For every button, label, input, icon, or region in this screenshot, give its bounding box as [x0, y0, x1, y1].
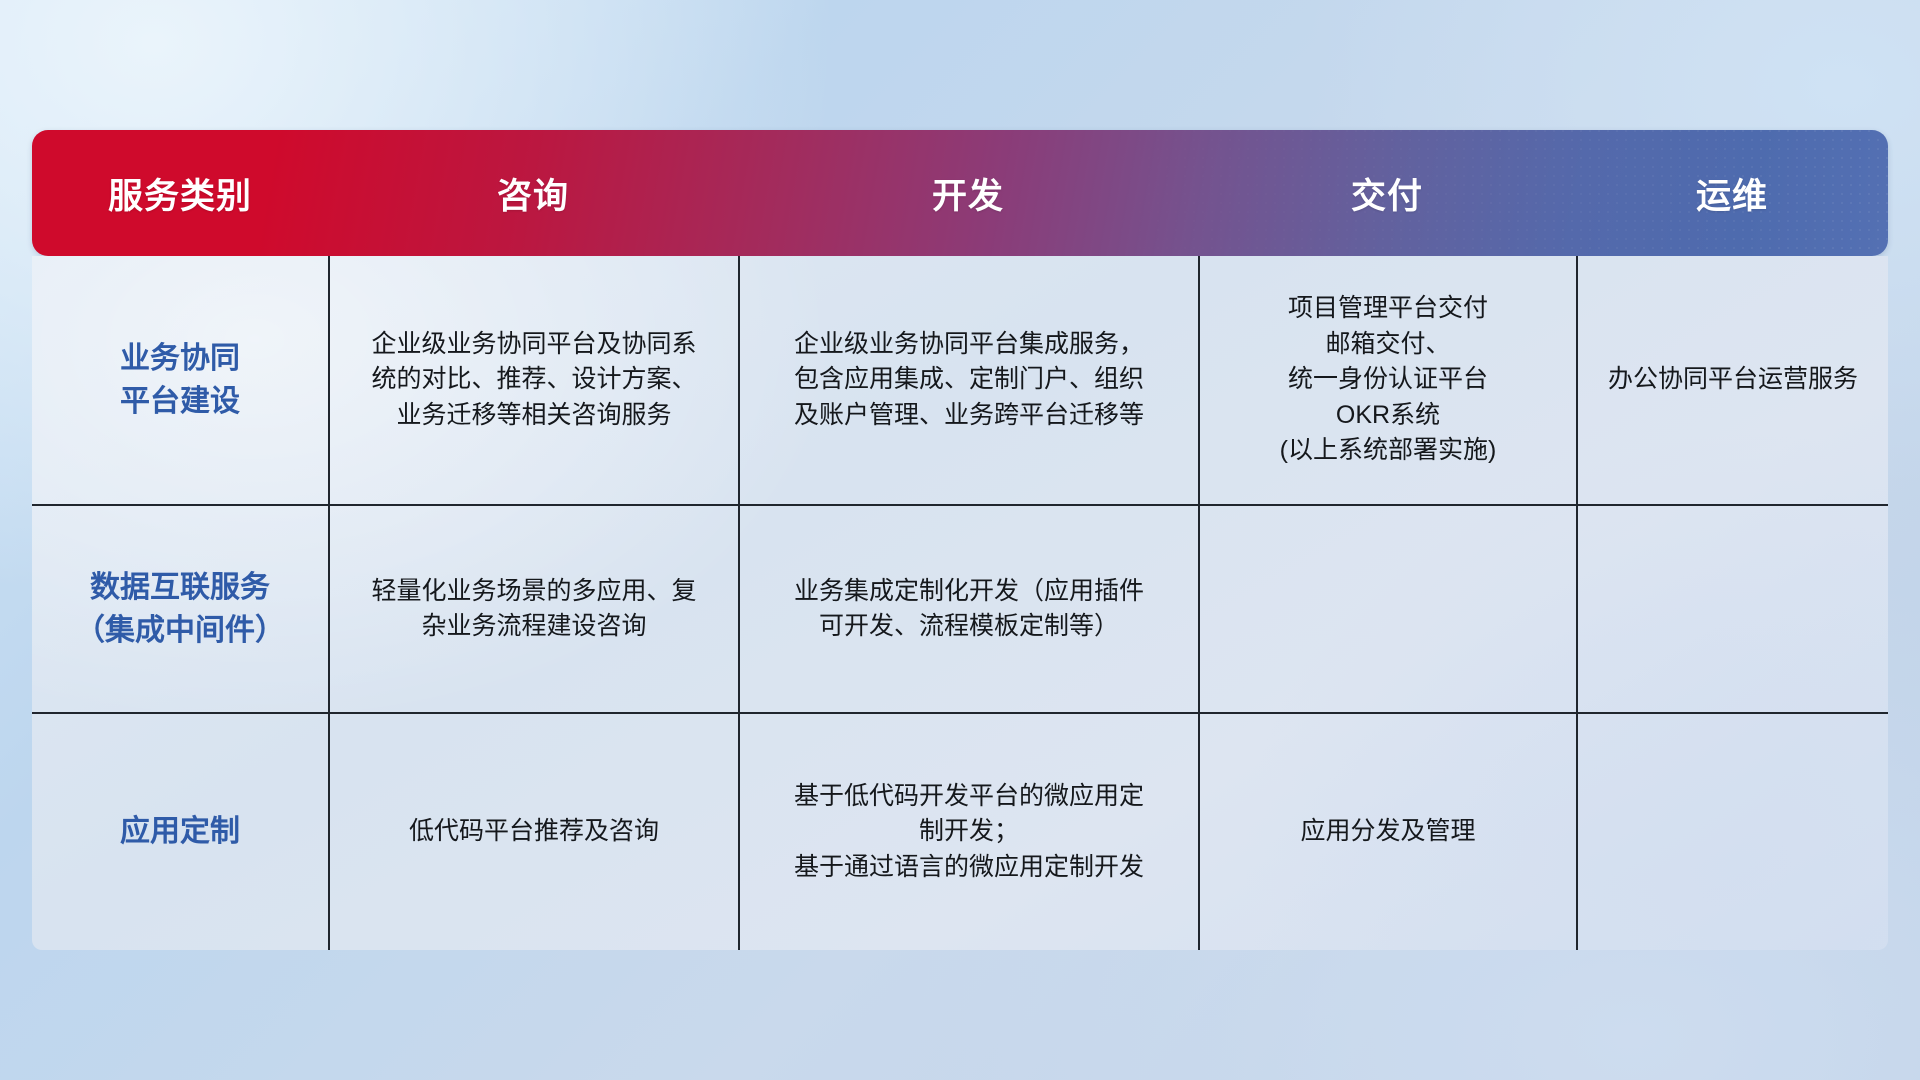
column-header-development: 开发	[738, 168, 1198, 219]
column-header-service-category: 服务类别	[32, 168, 328, 219]
cell-development: 业务集成定制化开发（应用插件 可开发、流程模板定制等）	[738, 506, 1198, 712]
cell-consulting: 低代码平台推荐及咨询	[328, 714, 738, 950]
column-header-consulting: 咨询	[328, 168, 738, 219]
cell-delivery: 应用分发及管理	[1198, 714, 1576, 950]
column-header-delivery: 交付	[1198, 168, 1576, 219]
table-header-row: 服务类别 咨询 开发 交付 运维	[32, 130, 1888, 256]
table-body: 业务协同 平台建设 企业级业务协同平台及协同系 统的对比、推荐、设计方案、 业务…	[32, 256, 1888, 950]
row-category-label: 数据互联服务 （集成中间件）	[32, 506, 328, 712]
row-category-label: 应用定制	[32, 714, 328, 950]
service-matrix-table: 服务类别 咨询 开发 交付 运维 业务协同 平台建设 企业级业务协同平台及协同系…	[32, 130, 1888, 950]
table-row: 数据互联服务 （集成中间件） 轻量化业务场景的多应用、复 杂业务流程建设咨询 业…	[32, 504, 1888, 712]
table-row: 应用定制 低代码平台推荐及咨询 基于低代码开发平台的微应用定 制开发； 基于通过…	[32, 712, 1888, 950]
cell-operations: 办公协同平台运营服务	[1576, 256, 1888, 504]
table-row: 业务协同 平台建设 企业级业务协同平台及协同系 统的对比、推荐、设计方案、 业务…	[32, 256, 1888, 504]
cell-delivery: 项目管理平台交付 邮箱交付、 统一身份认证平台 OKR系统 (以上系统部署实施)	[1198, 256, 1576, 504]
cell-delivery	[1198, 506, 1576, 712]
cell-operations	[1576, 714, 1888, 950]
row-category-label: 业务协同 平台建设	[32, 256, 328, 504]
cell-operations	[1576, 506, 1888, 712]
cell-development: 基于低代码开发平台的微应用定 制开发； 基于通过语言的微应用定制开发	[738, 714, 1198, 950]
cell-consulting: 轻量化业务场景的多应用、复 杂业务流程建设咨询	[328, 506, 738, 712]
column-header-operations: 运维	[1576, 168, 1888, 219]
cell-consulting: 企业级业务协同平台及协同系 统的对比、推荐、设计方案、 业务迁移等相关咨询服务	[328, 256, 738, 504]
slide-canvas: 服务类别 咨询 开发 交付 运维 业务协同 平台建设 企业级业务协同平台及协同系…	[0, 0, 1920, 1080]
cell-development: 企业级业务协同平台集成服务， 包含应用集成、定制门户、组织 及账户管理、业务跨平…	[738, 256, 1198, 504]
